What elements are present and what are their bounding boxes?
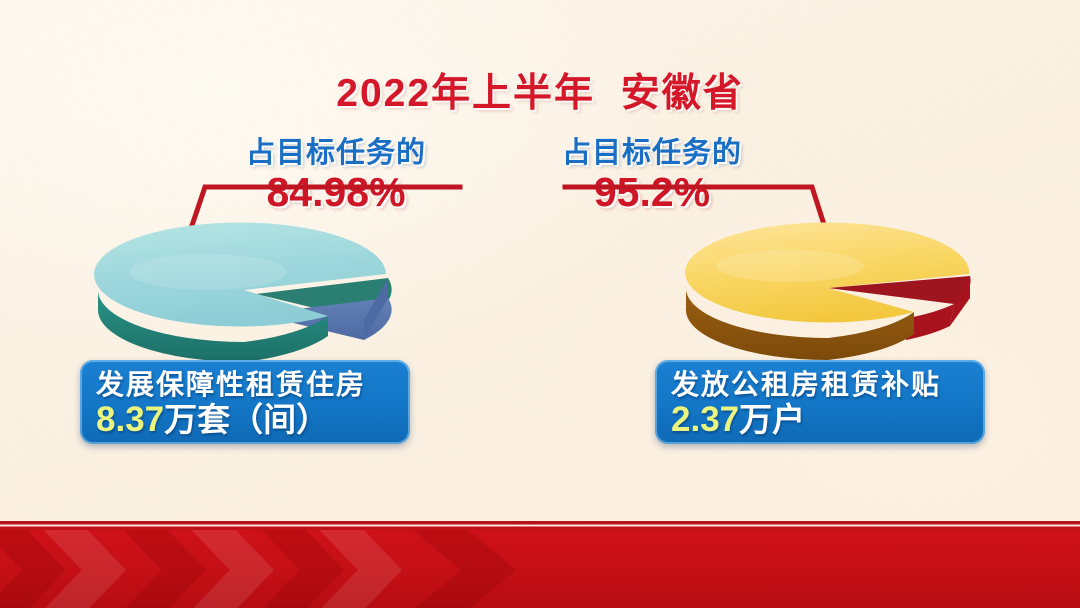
callout-left: 占目标任务的 84.98% bbox=[196, 138, 476, 216]
left-pie-highlight bbox=[130, 254, 286, 290]
right-pie-highlight bbox=[716, 250, 864, 282]
callout-left-percent: 84.98% bbox=[196, 170, 476, 216]
callout-right-percent: 95.2% bbox=[512, 170, 792, 216]
left-label-value: 8.37万套（间） bbox=[96, 400, 394, 439]
bottom-banner bbox=[0, 530, 1080, 608]
left-label-unit: 万套（间） bbox=[164, 401, 329, 438]
right-label-title: 发放公租房租赁补贴 bbox=[671, 369, 969, 400]
banner-divider bbox=[0, 521, 1080, 530]
left-label-title: 发展保障性租赁住房 bbox=[96, 369, 394, 400]
left-label-box: 发展保障性租赁住房 8.37万套（间） bbox=[80, 360, 410, 444]
chevron-icon bbox=[396, 530, 516, 608]
right-pie-chart bbox=[678, 226, 978, 354]
right-label-value: 2.37万户 bbox=[671, 400, 969, 439]
infographic-canvas: 2022年上半年 安徽省 占目标任务的 84.98% 占目标任务的 95.2% bbox=[0, 0, 1080, 608]
right-label-box: 发放公租房租赁补贴 2.37万户 bbox=[655, 360, 985, 444]
left-label-number: 8.37 bbox=[96, 400, 164, 439]
page-title: 2022年上半年 安徽省 bbox=[0, 62, 1080, 118]
callout-right-caption: 占目标任务的 bbox=[512, 138, 792, 170]
left-pie-chart bbox=[88, 232, 400, 360]
callout-right: 占目标任务的 95.2% bbox=[512, 138, 792, 216]
right-label-unit: 万户 bbox=[739, 401, 805, 438]
right-label-number: 2.37 bbox=[671, 400, 739, 439]
callout-left-caption: 占目标任务的 bbox=[196, 138, 476, 170]
